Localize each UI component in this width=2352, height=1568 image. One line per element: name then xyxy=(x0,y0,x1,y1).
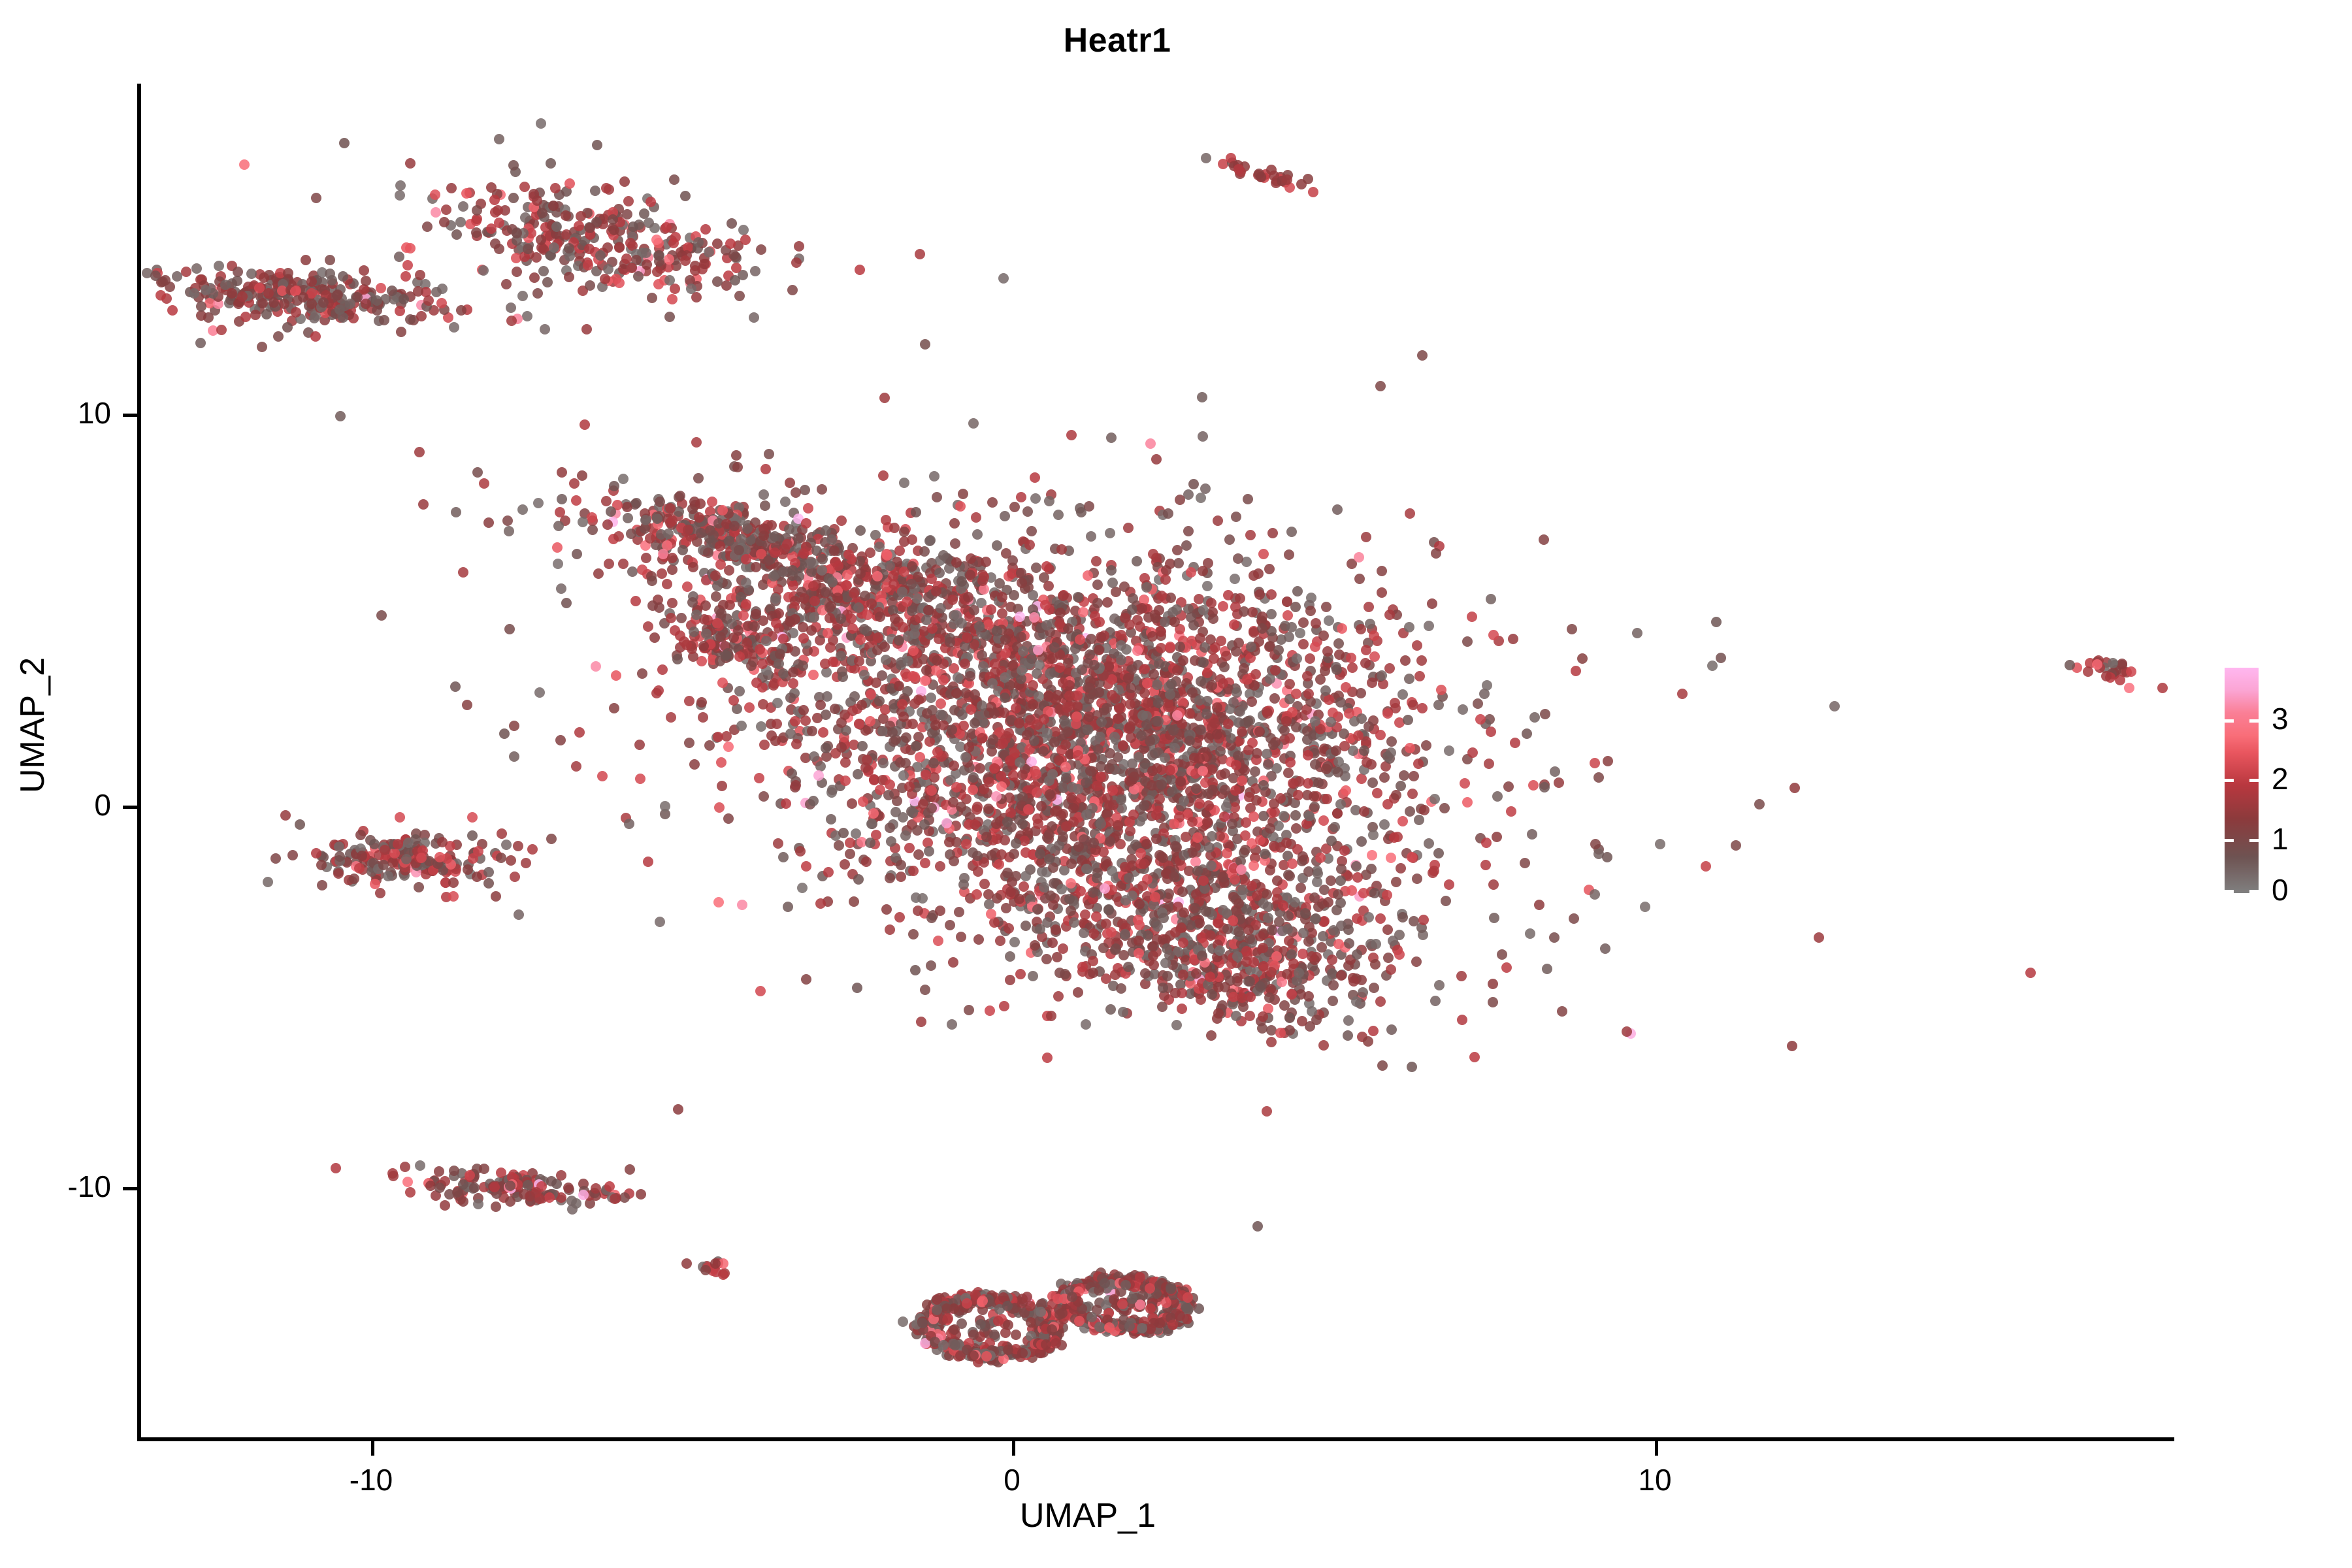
colorbar-tick-2-right xyxy=(2249,779,2259,782)
colorbar-tick-3-left xyxy=(2225,719,2234,723)
y-tick-label-0: 0 xyxy=(94,787,111,823)
y-axis-line xyxy=(137,84,141,1441)
x-axis-title: UMAP_1 xyxy=(0,1496,2176,1535)
plot-root: Heatr1 10 0 -10 -10 0 10 UMAP_1 UMAP_2 3… xyxy=(0,0,2352,1568)
colorbar-label-1: 1 xyxy=(2272,824,2289,854)
x-tick-label-neg10: -10 xyxy=(293,1462,449,1497)
x-tick-label-0: 0 xyxy=(934,1462,1090,1497)
colorbar-tick-1-left xyxy=(2225,839,2234,842)
y-tick-label-10: 10 xyxy=(78,395,111,431)
colorbar-tick-3-right xyxy=(2249,719,2259,723)
colorbar-tick-0-right xyxy=(2249,890,2259,893)
y-tick-mark-0 xyxy=(123,806,137,809)
colorbar-label-0: 0 xyxy=(2272,875,2289,905)
colorbar-gradient xyxy=(2225,668,2259,893)
x-tick-label-10: 10 xyxy=(1576,1462,1733,1497)
colorbar-label-2: 2 xyxy=(2272,764,2289,794)
y-tick-mark-10 xyxy=(123,414,137,417)
scatter-points-layer xyxy=(140,85,2172,1437)
colorbar-legend[interactable]: 3 2 1 0 xyxy=(2225,668,2339,893)
colorbar-label-3: 3 xyxy=(2272,704,2289,734)
page-title: Heatr1 xyxy=(0,21,2293,60)
scatter-plot-panel[interactable] xyxy=(140,85,2172,1437)
x-tick-mark-0 xyxy=(1012,1441,1015,1456)
y-tick-mark-neg10 xyxy=(123,1187,137,1190)
x-axis-line xyxy=(137,1437,2174,1441)
colorbar-tick-0-left xyxy=(2225,890,2234,893)
colorbar-tick-2-left xyxy=(2225,779,2234,782)
y-tick-label-neg10: -10 xyxy=(68,1169,111,1204)
x-tick-mark-10 xyxy=(1655,1441,1658,1456)
colorbar-tick-1-right xyxy=(2249,839,2259,842)
y-axis-title: UMAP_2 xyxy=(13,542,52,908)
x-tick-mark-neg10 xyxy=(371,1441,374,1456)
